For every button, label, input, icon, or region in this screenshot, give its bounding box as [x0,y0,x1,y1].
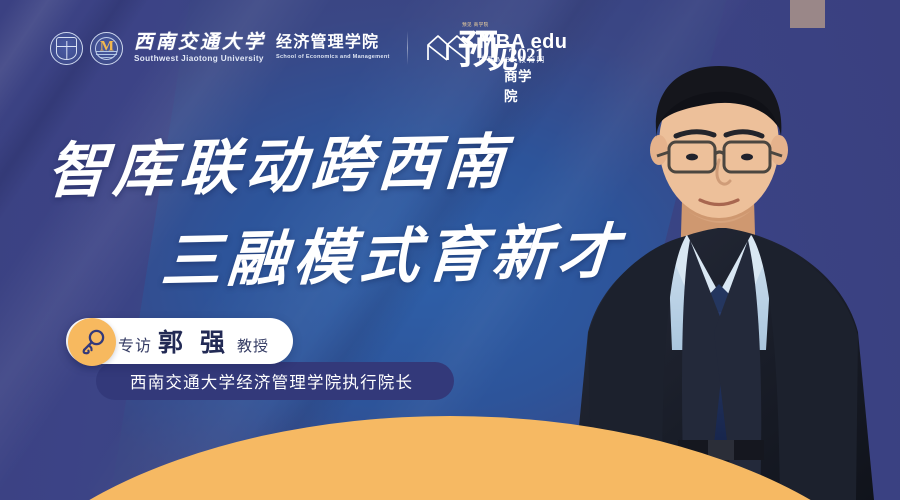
guest-subtitle-pill: 西南交通大学经济管理学院执行院长 [96,362,454,400]
foresee-2021-badge: 预见 商学院 预 见 2021 商学院 [458,22,536,82]
headline-line-1: 智库联动跨西南 [45,113,514,210]
logo-divider [407,31,408,65]
guest-prefix-label: 专访 [118,332,152,356]
badge-year: 2021 [508,45,544,67]
university-crest-icon [50,32,83,65]
poster-canvas: M 西南交通大学 Southwest Jiaotong University 经… [0,0,900,500]
badge-suffix: 商学院 [504,65,536,105]
school-name-en: School of Economics and Management [276,55,390,61]
microphone-icon [77,327,107,357]
headline-line-2: 三融模式育新才 [159,203,628,300]
microphone-badge [68,318,116,366]
guest-name: 郭 强 [158,323,230,359]
school-name-cn: 经济管理学院 [276,35,390,51]
guest-subtitle-text: 西南交通大学经济管理学院执行院长 [130,369,413,393]
emblem-wave-icon [96,51,117,58]
university-name-block: 西南交通大学 Southwest Jiaotong University [134,33,266,63]
school-name-block: 经济管理学院 School of Economics and Managemen… [276,35,390,61]
university-name-cn: 西南交通大学 [134,33,266,52]
jiaotong-m-emblem-icon: M [90,32,123,65]
guest-honorific-label: 教授 [237,335,269,356]
university-name-en: Southwest Jiaotong University [134,55,266,63]
top-right-rectangle-decoration [790,0,825,28]
